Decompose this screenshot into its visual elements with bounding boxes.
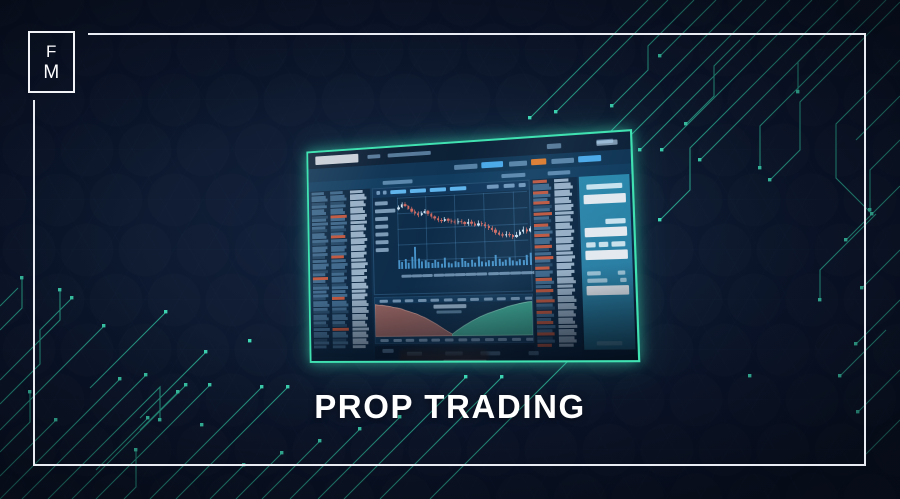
volume-bar [526, 254, 528, 265]
candle-body [519, 232, 521, 235]
order-book-row[interactable] [314, 345, 326, 348]
x-axis-tick-label [477, 272, 488, 275]
chart-price-high [410, 188, 426, 193]
volume-bar [441, 263, 443, 267]
candle-body [525, 229, 527, 231]
candle-body [464, 222, 466, 224]
order-book-left[interactable] [311, 189, 374, 358]
candle-body [410, 209, 412, 212]
depth-tick-top [380, 299, 388, 302]
panel-label-chart [501, 173, 525, 178]
candle-body [414, 211, 416, 214]
x-axis-tick-label [423, 274, 434, 277]
candle-body [407, 206, 409, 209]
candle-body [447, 219, 449, 221]
chart-tool-icon-1[interactable] [376, 191, 380, 195]
depth-tick-bottom [445, 338, 454, 341]
chart-price-close [450, 186, 467, 191]
candle-body [484, 224, 486, 226]
order-form-subtitle [605, 218, 625, 224]
depth-tick-bottom [526, 337, 535, 340]
market-depth-chart[interactable] [374, 294, 534, 345]
order-form-footer [597, 341, 623, 345]
candle-body [487, 226, 489, 228]
order-balance-label [587, 278, 607, 283]
x-axis-tick-label [455, 273, 466, 276]
volume-bar [405, 259, 407, 269]
candle-body [529, 228, 531, 231]
volume-bar [414, 247, 416, 269]
candle-body [424, 211, 426, 213]
fm-logo-letter-f: F [46, 43, 57, 60]
candle-body [501, 234, 503, 236]
order-form-title [586, 183, 622, 190]
candle-body [470, 221, 472, 223]
chart-price-low [430, 187, 446, 192]
order-book-row[interactable] [537, 340, 554, 343]
trades-column-amount [554, 177, 579, 356]
volume-bar [464, 261, 466, 267]
candle-body [491, 227, 493, 230]
volume-bar [411, 257, 413, 269]
depth-tick-bottom [419, 338, 428, 341]
candle-body [474, 223, 476, 225]
depth-tick-top [470, 297, 479, 300]
order-pct-25-button[interactable] [586, 242, 596, 248]
volume-bar [468, 263, 470, 267]
volume-bar [502, 261, 504, 266]
depth-tick-top [431, 298, 440, 301]
volume-bar [519, 259, 521, 266]
depth-tick-bottom [512, 337, 521, 340]
volume-bar [454, 261, 456, 267]
chart-interval-3[interactable] [519, 183, 526, 187]
volume-bar [461, 258, 463, 267]
order-book-column-total [350, 189, 371, 357]
depth-tick-top [392, 299, 400, 302]
order-fee-value [618, 270, 626, 274]
candle-body [512, 235, 514, 237]
y-axis-tick-label [376, 248, 389, 252]
order-fee-label [587, 271, 601, 276]
depth-spread-label [436, 310, 461, 313]
screen-surface [308, 131, 638, 361]
fm-logo[interactable]: F M [28, 31, 75, 93]
price-chart-panel[interactable] [372, 180, 533, 296]
candle-body [404, 204, 406, 206]
depth-tick-bottom [498, 337, 507, 340]
candle-body [508, 234, 510, 236]
depth-tick-bottom [393, 338, 402, 341]
order-submit-button[interactable] [586, 285, 629, 295]
volume-bar [444, 257, 446, 267]
volume-bar [498, 259, 500, 266]
panel-label-orderbook [383, 179, 413, 185]
volume-bar [474, 262, 476, 266]
volume-bar [495, 255, 497, 266]
candle-body [444, 219, 446, 221]
screen-content [308, 131, 638, 361]
depth-tick-bottom [458, 338, 467, 341]
candle-body [477, 223, 479, 225]
ticker-value-3 [578, 155, 601, 163]
candle-body [454, 222, 456, 223]
ticker-label-3 [551, 158, 574, 164]
x-axis-tick-label [510, 271, 521, 274]
volume-bar [438, 262, 440, 268]
order-amount-input[interactable] [585, 226, 628, 237]
volume-bar [421, 261, 423, 268]
banner-canvas: F M [0, 0, 900, 499]
volume-bar [508, 257, 510, 265]
y-axis-tick-label [375, 232, 388, 236]
depth-tick-top [524, 296, 533, 299]
depth-mid-price [433, 304, 466, 309]
volume-bar [434, 260, 436, 268]
y-axis-tick-label [375, 201, 388, 206]
candle-body [498, 232, 500, 234]
volume-bar [428, 262, 430, 268]
hand-silhouette [399, 344, 488, 361]
chart-tool-icon-2[interactable] [383, 191, 387, 195]
volume-bar [431, 263, 433, 268]
candle-body [401, 204, 403, 207]
order-book-row[interactable] [559, 343, 574, 346]
recent-trades-panel[interactable] [532, 177, 583, 356]
candle-body [397, 207, 399, 210]
order-pct-100-button[interactable] [611, 241, 625, 247]
candle-body [417, 213, 419, 215]
y-axis-tick-label [376, 240, 389, 244]
ticker-value-2 [531, 158, 546, 165]
volume-bar [488, 260, 490, 266]
candle-body [450, 221, 452, 222]
frame-border-bottom [33, 464, 866, 466]
ticker-value-1 [481, 161, 503, 168]
volume-bar [448, 262, 450, 267]
ticker-label-2 [509, 161, 527, 167]
order-total-input[interactable] [585, 249, 628, 260]
volume-bar [522, 260, 524, 265]
volume-histogram [398, 241, 529, 269]
volume-bar [481, 261, 483, 266]
volume-bar [471, 260, 473, 267]
x-axis-tick-label [401, 275, 411, 278]
x-axis-tick-label [444, 273, 455, 276]
frame-border-top [88, 33, 866, 35]
positions-tab-more[interactable] [528, 351, 538, 355]
candle-body [515, 235, 517, 238]
depth-tick-bottom [432, 338, 441, 341]
depth-tick-bottom [406, 338, 415, 341]
nav-item-2[interactable] [388, 151, 431, 158]
x-axis-tick-label [433, 274, 444, 277]
depth-tick-top [405, 299, 414, 302]
volume-bar [491, 261, 493, 266]
volume-bar [402, 262, 404, 269]
volume-bar [451, 263, 453, 267]
x-axis-tick-label [488, 272, 499, 275]
volume-bar [398, 260, 400, 269]
order-book-row[interactable] [333, 345, 346, 348]
volume-bar [516, 262, 518, 266]
depth-tick-top [497, 297, 506, 300]
candle-body [434, 216, 436, 218]
candle-body [457, 221, 459, 223]
order-book-row[interactable] [537, 343, 551, 346]
order-book-column-size [330, 190, 350, 357]
x-axis-tick-label [521, 271, 532, 274]
nav-item-1[interactable] [367, 154, 380, 159]
trading-terminal-screenshot [306, 129, 640, 363]
page-title: PROP TRADING [0, 388, 900, 426]
volume-bar [408, 263, 410, 269]
y-axis-tick-label [375, 209, 395, 214]
depth-tick-top [484, 297, 493, 300]
volume-bar [424, 260, 426, 268]
candle-body [440, 220, 442, 221]
y-axis-tick-label [375, 224, 388, 228]
volume-bar [505, 260, 507, 266]
x-axis-tick-label [412, 274, 422, 277]
candle-body [420, 213, 422, 215]
fm-logo-letter-m: M [43, 63, 59, 82]
depth-tick-top [444, 298, 453, 301]
volume-bar [529, 252, 531, 265]
depth-tick-top [511, 296, 520, 299]
volume-bar [485, 262, 487, 266]
candle-body [467, 222, 469, 225]
order-entry-form[interactable] [579, 174, 636, 350]
volume-bar [512, 260, 514, 265]
x-axis-tick-label [466, 273, 477, 276]
positions-tab-open[interactable] [382, 349, 393, 353]
ticker-label-4 [547, 143, 561, 149]
order-book-row[interactable] [353, 345, 366, 348]
search-input[interactable] [315, 154, 358, 165]
order-pct-50-button[interactable] [599, 242, 609, 248]
depth-tick-bottom [485, 338, 494, 341]
depth-tick-top [457, 298, 466, 301]
depth-tick-bottom [471, 338, 480, 341]
candle-body [437, 218, 439, 220]
order-book-column-price [311, 191, 331, 357]
candle-body [430, 213, 432, 216]
depth-tick-bottom [380, 339, 388, 342]
volume-bar [418, 259, 420, 269]
volume-bar [478, 257, 480, 267]
depth-tick-top [418, 298, 427, 301]
candle-body [427, 211, 429, 214]
order-price-input[interactable] [583, 193, 626, 204]
positions-panel[interactable] [375, 345, 535, 359]
chart-interval-2[interactable] [504, 183, 515, 188]
candle-body [460, 221, 462, 223]
ticker-label-1 [454, 164, 477, 170]
x-axis-tick-label [499, 272, 510, 275]
order-book-row[interactable] [559, 340, 577, 343]
candle-body [494, 230, 496, 233]
trades-column-price [533, 178, 558, 356]
volume-bar [458, 262, 460, 267]
candle-body [522, 229, 524, 232]
y-axis-tick-label [375, 217, 388, 221]
chart-interval-1[interactable] [487, 184, 499, 189]
candle-body [505, 234, 507, 236]
candle-body [481, 223, 483, 224]
trading-terminal-container [296, 140, 632, 362]
panel-label-trades [548, 170, 571, 175]
order-balance-value [620, 278, 627, 282]
chart-price-open [390, 189, 406, 194]
